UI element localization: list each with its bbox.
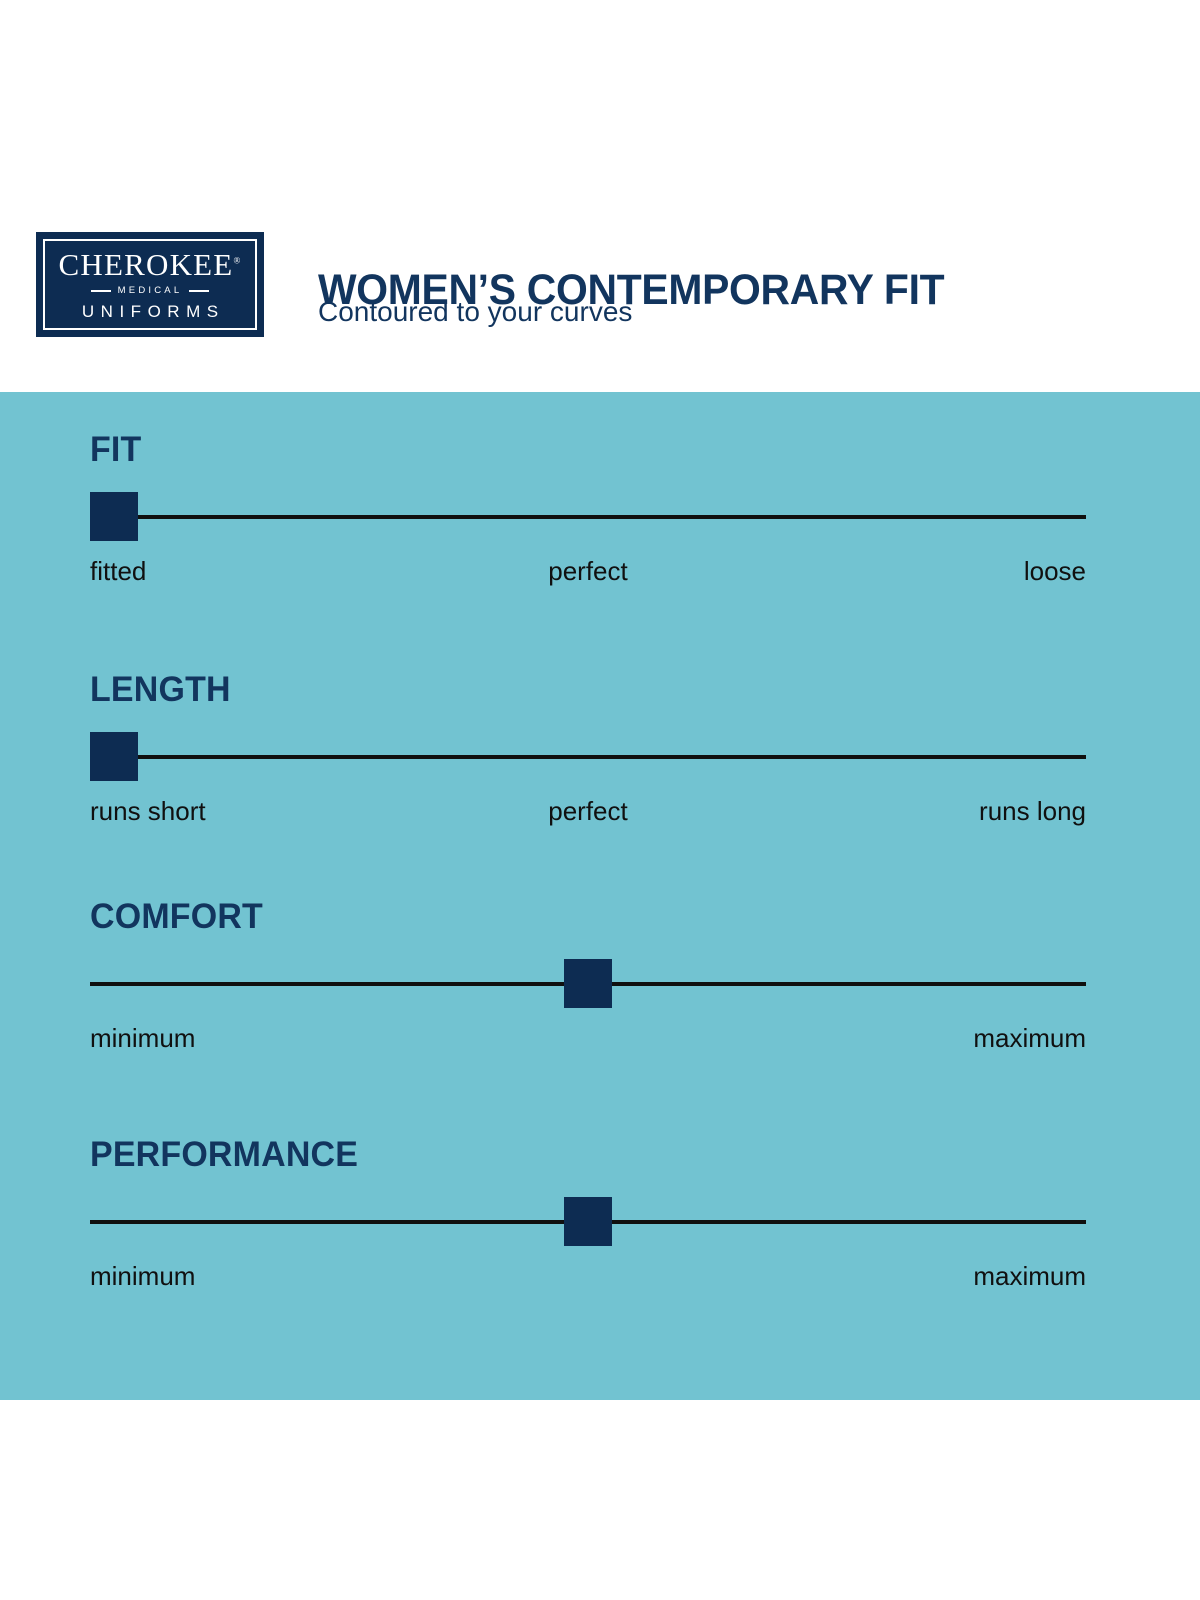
- slider-comfort[interactable]: [90, 956, 1086, 1012]
- slider-heading-performance: PERFORMANCE: [90, 1137, 1056, 1172]
- slider-heading-comfort: COMFORT: [90, 899, 1056, 934]
- slider-marker-fit[interactable]: [90, 492, 138, 541]
- slider-labels-length: runs short perfect runs long: [90, 795, 1086, 829]
- slider-group-performance: PERFORMANCE minimum maximum: [90, 1137, 1086, 1294]
- logo-uniforms-text: UNIFORMS: [75, 303, 224, 320]
- slider-label-left-performance: minimum: [90, 1260, 195, 1293]
- slider-group-length: LENGTH runs short perfect runs long: [90, 672, 1086, 829]
- registered-trademark-icon: ®: [233, 256, 241, 266]
- slider-labels-performance: minimum maximum: [90, 1260, 1086, 1294]
- slider-label-left-fit: fitted: [90, 555, 146, 588]
- slider-labels-fit: fitted perfect loose: [90, 555, 1086, 589]
- slider-track-fit[interactable]: [137, 515, 1086, 519]
- page-header: CHEROKEE® MEDICAL UNIFORMS WOMEN’S CONTE…: [0, 0, 1200, 392]
- slider-heading-length: LENGTH: [90, 672, 1056, 707]
- slider-label-right-fit: loose: [1024, 555, 1086, 588]
- slider-group-comfort: COMFORT minimum maximum: [90, 899, 1086, 1056]
- slider-marker-performance[interactable]: [564, 1197, 612, 1246]
- logo-medical-row: MEDICAL: [91, 286, 210, 296]
- slider-label-center-length: perfect: [548, 795, 628, 828]
- logo-rule-right-icon: [189, 290, 209, 292]
- slider-labels-comfort: minimum maximum: [90, 1022, 1086, 1056]
- logo-rule-left-icon: [91, 290, 111, 292]
- slider-heading-fit: FIT: [90, 432, 1056, 467]
- fit-scales-panel: FIT fitted perfect loose LENGTH runs sho…: [0, 392, 1200, 1400]
- logo-medical-text: MEDICAL: [118, 286, 183, 296]
- slider-marker-length[interactable]: [90, 732, 138, 781]
- slider-label-left-length: runs short: [90, 795, 206, 828]
- cherokee-logo: CHEROKEE® MEDICAL UNIFORMS: [36, 232, 264, 337]
- slider-label-right-comfort: maximum: [973, 1022, 1086, 1055]
- slider-marker-comfort[interactable]: [564, 959, 612, 1008]
- slider-label-right-performance: maximum: [973, 1260, 1086, 1293]
- slider-label-left-comfort: minimum: [90, 1022, 195, 1055]
- slider-group-fit: FIT fitted perfect loose: [90, 432, 1086, 589]
- logo-brand-text: CHEROKEE: [59, 247, 234, 282]
- slider-performance[interactable]: [90, 1194, 1086, 1250]
- slider-label-right-length: runs long: [979, 795, 1086, 828]
- logo-inner-border: CHEROKEE® MEDICAL UNIFORMS: [43, 239, 257, 330]
- slider-label-center-fit: perfect: [548, 555, 628, 588]
- slider-track-length[interactable]: [137, 755, 1086, 759]
- logo-brand-name: CHEROKEE®: [59, 249, 242, 280]
- page-subtitle: Contoured to your curves: [318, 298, 632, 326]
- slider-length[interactable]: [90, 729, 1086, 785]
- slider-fit[interactable]: [90, 489, 1086, 545]
